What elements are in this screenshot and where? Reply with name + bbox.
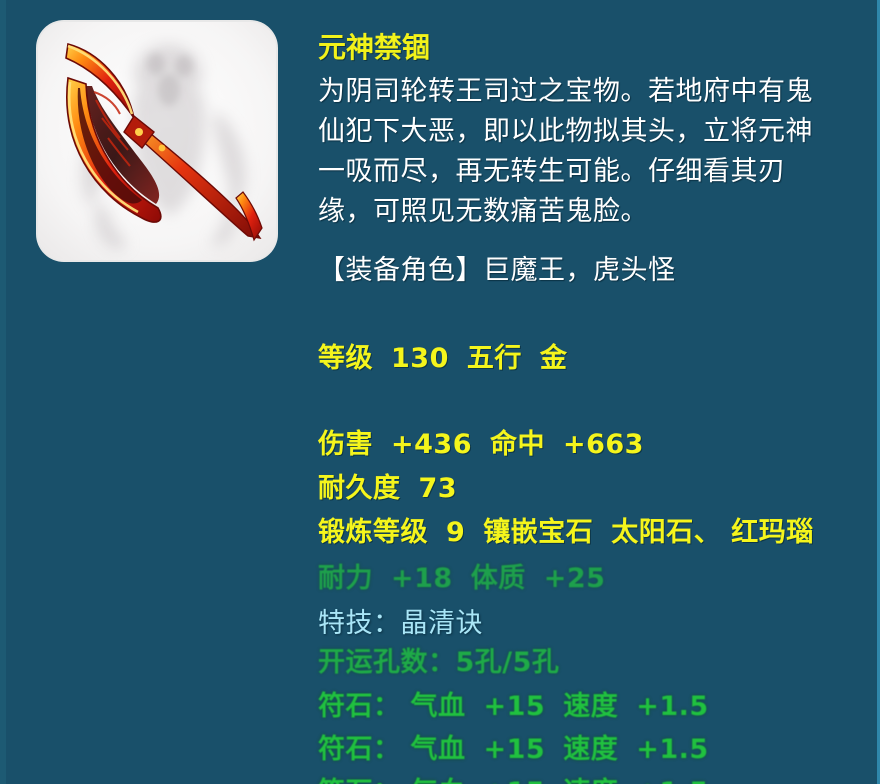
rune-label: 符石： — [318, 727, 401, 766]
stat1-label: 耐力 — [318, 556, 373, 595]
rune-stat1-label: 气血 — [411, 727, 466, 766]
rune-stat2-label: 速度 — [563, 770, 618, 784]
accuracy-value: +663 — [563, 429, 644, 460]
rune-stat2-value: +1.5 — [636, 691, 708, 722]
rune-row: 符石：气血+15速度+1.5 — [318, 727, 709, 766]
socket-value: 5孔/5孔 — [456, 640, 560, 679]
gem-value: 太阳石、 红玛瑙 — [611, 510, 813, 549]
durability-row: 耐久度73 — [318, 466, 457, 505]
rune-row: 符石：气血+15速度+1.5 — [318, 684, 709, 723]
level-value: 130 — [391, 343, 449, 374]
durability-label: 耐久度 — [318, 466, 401, 505]
rune-label: 符石： — [318, 770, 401, 784]
equip-role-value: 巨魔王，虎头怪 — [483, 248, 676, 287]
element-label: 五行 — [467, 336, 522, 375]
item-tooltip: 元神禁锢 为阴司轮转王司过之宝物。若地府中有鬼 仙犯下大恶，即以此物拟其头，立将… — [0, 0, 890, 784]
stat2-value: +25 — [544, 563, 606, 594]
special-skill-value: 晶清诀 — [401, 601, 484, 640]
durability-value: 73 — [419, 473, 458, 504]
equip-role-label: 【装备角色】 — [318, 248, 483, 287]
rune-stat2-value: +1.5 — [636, 734, 708, 765]
rune-stat1-value: +15 — [484, 734, 546, 765]
item-name: 元神禁锢 — [318, 26, 430, 66]
forge-label: 锻炼等级 — [318, 510, 428, 549]
special-skill-label: 特技： — [318, 601, 401, 640]
equip-role-row: 【装备角色】巨魔王，虎头怪 — [318, 248, 676, 287]
stat1-value: +18 — [391, 563, 453, 594]
rune-stat1-label: 气血 — [411, 770, 466, 784]
rune-stat1-label: 气血 — [411, 684, 466, 723]
description-line: 为阴司轮转王司过之宝物。若地府中有鬼 — [318, 72, 870, 112]
forge-row: 锻炼等级9镶嵌宝石太阳石、 红玛瑙 — [318, 510, 814, 549]
level-row: 等级130五行金 — [318, 336, 567, 375]
special-skill-row: 特技：晶清诀 — [318, 601, 483, 640]
socket-label: 开运孔数： — [318, 640, 456, 679]
blood-scythe-icon — [38, 22, 276, 260]
right-edge-fill — [880, 0, 890, 784]
rune-row: 符石：气血+15速度+1.5 — [318, 770, 709, 784]
accuracy-label: 命中 — [490, 422, 545, 461]
element-value: 金 — [540, 336, 568, 375]
gem-label: 镶嵌宝石 — [483, 510, 593, 549]
rune-stat1-value: +15 — [484, 691, 546, 722]
damage-value: +436 — [391, 429, 472, 460]
damage-row: 伤害+436命中+663 — [318, 422, 644, 461]
damage-label: 伤害 — [318, 422, 373, 461]
rune-stat2-label: 速度 — [563, 727, 618, 766]
stat2-label: 体质 — [471, 556, 526, 595]
left-edge-strip — [0, 0, 6, 784]
item-description: 为阴司轮转王司过之宝物。若地府中有鬼 仙犯下大恶，即以此物拟其头，立将元神 一吸… — [318, 72, 870, 232]
rune-stat1-value: +15 — [484, 777, 546, 784]
item-icon-frame[interactable] — [38, 22, 276, 260]
attribute-row: 耐力+18体质+25 — [318, 556, 605, 595]
forge-value: 9 — [446, 517, 465, 548]
level-label: 等级 — [318, 336, 373, 375]
description-line: 仙犯下大恶，即以此物拟其头，立将元神 — [318, 112, 870, 152]
rune-stat2-value: +1.5 — [636, 777, 708, 784]
description-line: 一吸而尽，再无转生可能。仔细看其刃 — [318, 152, 870, 192]
description-line: 缘，可照见无数痛苦鬼脸。 — [318, 192, 870, 232]
rune-label: 符石： — [318, 684, 401, 723]
socket-row: 开运孔数：5孔/5孔 — [318, 640, 559, 679]
rune-stat2-label: 速度 — [563, 684, 618, 723]
